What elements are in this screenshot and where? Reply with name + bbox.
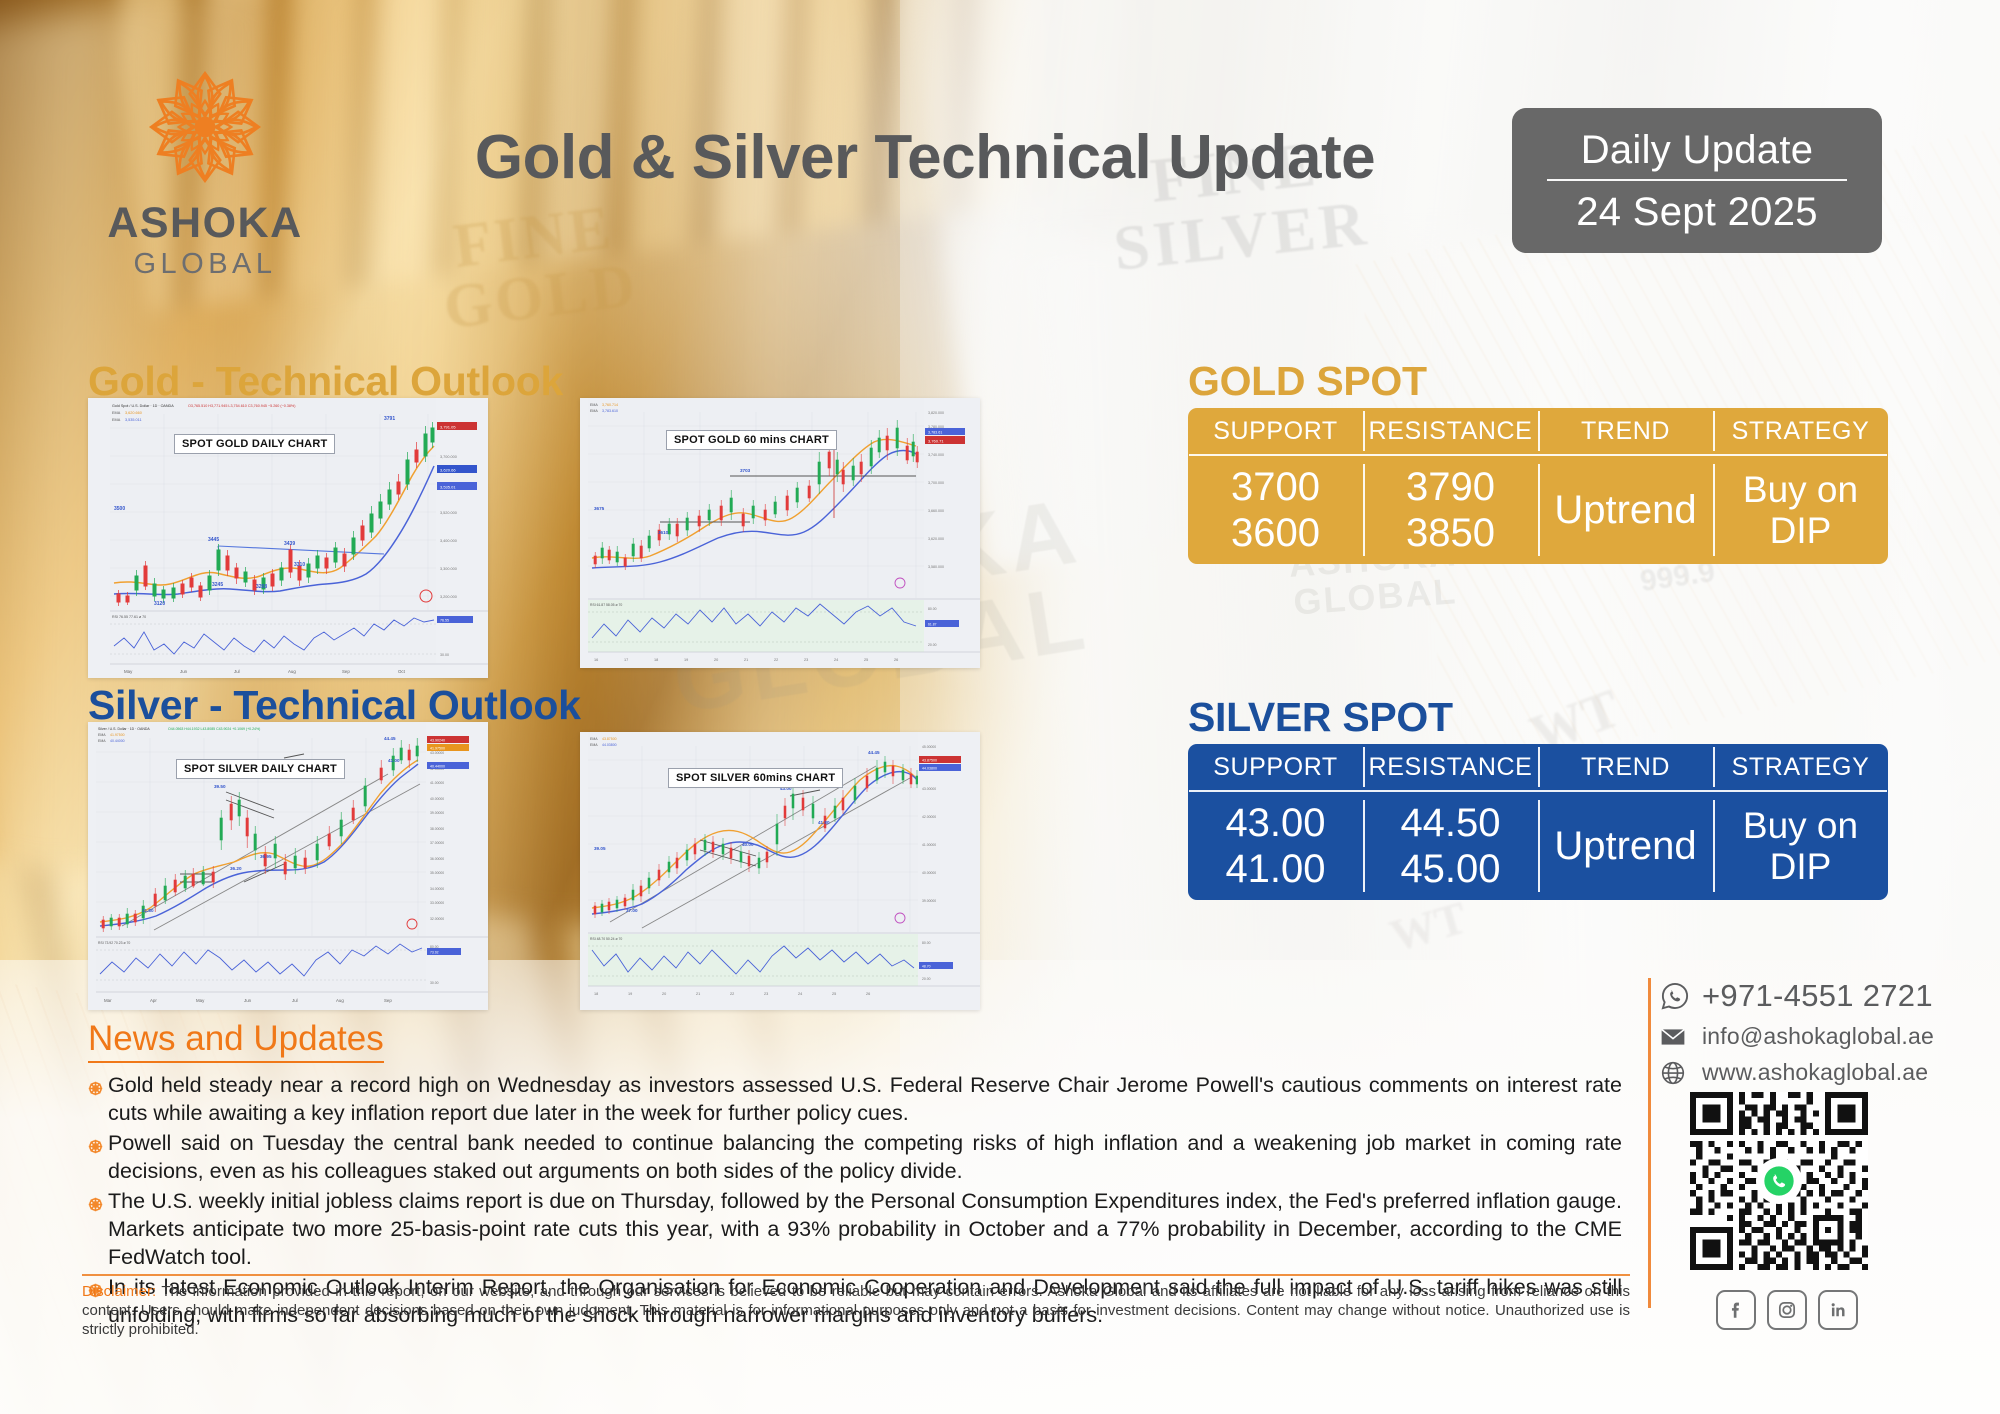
svg-text:3445: 3445	[208, 537, 219, 543]
svg-text:36.00000: 36.00000	[430, 857, 444, 861]
svg-text:44.45: 44.45	[868, 750, 880, 755]
contact-email: info@ashokaglobal.ae	[1702, 1023, 1934, 1050]
svg-text:Sep: Sep	[342, 669, 350, 674]
silver-trend-value: Uptrend	[1538, 792, 1713, 900]
gold-table-header-row: SUPPORT RESISTANCE TREND STRATEGY	[1188, 408, 1888, 454]
whatsapp-icon	[1763, 1165, 1795, 1197]
envelope-icon	[1660, 1024, 1702, 1050]
gold-support-2: 3600	[1231, 511, 1320, 556]
svg-text:38.00000: 38.00000	[430, 827, 444, 831]
svg-text:41.00000: 41.00000	[430, 781, 444, 785]
svg-text:73.92: 73.92	[430, 951, 439, 955]
instagram-icon[interactable]	[1767, 1290, 1807, 1330]
svg-text:3,535.01: 3,535.01	[440, 484, 456, 489]
svg-text:30.00: 30.00	[440, 653, 449, 657]
svg-text:RSI 48.70 50.24 ø 70: RSI 48.70 50.24 ø 70	[590, 937, 622, 941]
svg-text:26: 26	[866, 992, 870, 996]
disclaimer-text: The information provided in this report,…	[82, 1283, 1630, 1338]
gold-resistance-2: 3850	[1406, 511, 1495, 556]
contact-website: www.ashokaglobal.ae	[1702, 1059, 1928, 1086]
svg-text:39.05: 39.05	[594, 846, 606, 851]
svg-text:80.00: 80.00	[928, 607, 937, 611]
svg-text:37.00000: 37.00000	[430, 841, 444, 845]
svg-text:May: May	[196, 998, 205, 1003]
svg-text:40.44000: 40.44000	[110, 739, 125, 743]
svg-text:3791: 3791	[384, 416, 395, 422]
silver-table-value-row: 43.00 41.00 44.50 45.00 Uptrend Buy on D…	[1188, 792, 1888, 900]
svg-text:39.00000: 39.00000	[430, 811, 444, 815]
qr-whatsapp-badge	[1756, 1158, 1802, 1204]
chart-silver-60min-title: SPOT SILVER 60mins CHART	[668, 768, 843, 788]
badge-label: Daily Update	[1581, 130, 1814, 179]
svg-text:Sep: Sep	[384, 998, 392, 1003]
svg-text:61.87: 61.87	[928, 623, 937, 627]
news-bullet	[82, 1130, 108, 1186]
svg-text:20: 20	[662, 992, 666, 996]
contact-phone-row[interactable]: +971-4551 2721	[1660, 978, 1934, 1014]
svg-text:3,620.66: 3,620.66	[440, 467, 456, 472]
svg-text:24: 24	[834, 658, 838, 662]
svg-text:43.87500: 43.87500	[922, 759, 937, 763]
svg-text:Jul: Jul	[234, 669, 240, 674]
svg-text:39.50: 39.50	[214, 784, 226, 789]
svg-text:3439: 3439	[284, 541, 295, 547]
svg-text:Jun: Jun	[244, 998, 252, 1003]
svg-text:16: 16	[594, 658, 598, 662]
daily-update-badge: Daily Update 24 Sept 2025	[1512, 108, 1882, 253]
svg-text:3,580.000: 3,580.000	[928, 565, 944, 569]
svg-text:34.00000: 34.00000	[430, 887, 444, 891]
svg-text:36.95: 36.95	[260, 854, 272, 859]
svg-text:RSI 76.55 77.61 ø 70: RSI 76.55 77.61 ø 70	[112, 615, 146, 619]
gold-col-trend: TREND	[1538, 408, 1713, 454]
svg-text:Aug: Aug	[288, 669, 296, 674]
svg-text:39.00000: 39.00000	[922, 899, 936, 903]
brand-logo-block: ASHOKA GLOBAL	[90, 58, 320, 279]
news-item: Gold held steady near a record high on W…	[82, 1072, 1622, 1128]
social-links	[1716, 1290, 1858, 1330]
chart-gold-daily-title: SPOT GOLD DAILY CHART	[174, 434, 335, 454]
svg-text:3268: 3268	[256, 584, 267, 590]
svg-text:40.00: 40.00	[742, 842, 754, 847]
svg-text:Oct: Oct	[398, 669, 406, 674]
svg-text:31.80: 31.80	[142, 908, 154, 913]
svg-text:45.00000: 45.00000	[922, 745, 936, 749]
qr-code-whatsapp[interactable]	[1690, 1092, 1868, 1270]
svg-text:21: 21	[696, 992, 700, 996]
svg-text:25: 25	[832, 992, 836, 996]
svg-text:EMA: EMA	[590, 737, 598, 741]
svg-text:3,200.000: 3,200.000	[440, 595, 457, 599]
svg-text:43.00000: 43.00000	[922, 787, 936, 791]
mandala-flower-icon	[136, 58, 274, 196]
silver-resistance-1: 44.50	[1400, 801, 1500, 846]
news-item: The U.S. weekly initial jobless claims r…	[82, 1188, 1622, 1272]
svg-text:41.97500: 41.97500	[430, 747, 445, 751]
mandala-bullet-icon	[88, 1197, 103, 1212]
svg-text:3,620.660: 3,620.660	[125, 411, 142, 415]
svg-text:40.44000: 40.44000	[430, 765, 445, 769]
chart-gold-daily[interactable]: Gold Spot / U.S. Dollar · 1D · OANDA O3,…	[88, 398, 488, 678]
gold-resistance-1: 3790	[1406, 465, 1495, 510]
contact-phone: +971-4551 2721	[1702, 978, 1933, 1014]
svg-text:23: 23	[804, 658, 808, 662]
svg-text:76.55: 76.55	[440, 619, 449, 623]
svg-text:3,400.000: 3,400.000	[440, 539, 457, 543]
svg-text:22: 22	[774, 658, 778, 662]
svg-text:3675: 3675	[594, 506, 605, 511]
news-text: Gold held steady near a record high on W…	[108, 1072, 1622, 1128]
svg-text:May: May	[124, 669, 133, 674]
svg-text:RSI 61.87 58.05 ø 70: RSI 61.87 58.05 ø 70	[590, 603, 622, 607]
silver-resistance-2: 45.00	[1400, 847, 1500, 892]
svg-text:O44.0563 H44.1932 L43.8085 C43: O44.0563 H44.1932 L43.8085 C43.9024 +0.1…	[168, 727, 260, 731]
mandala-bullet-icon	[88, 1081, 103, 1096]
svg-text:32.00000: 32.00000	[430, 917, 444, 921]
svg-text:43.00000: 43.00000	[430, 751, 444, 755]
svg-text:41.97500: 41.97500	[110, 733, 125, 737]
svg-text:Apr: Apr	[150, 998, 157, 1003]
svg-text:20.00: 20.00	[928, 643, 937, 647]
chart-gold-60min[interactable]: EMA 3,760.714 EMA 3,783.610	[580, 398, 980, 668]
svg-text:41.00000: 41.00000	[922, 843, 936, 847]
silver-table-header-row: SUPPORT RESISTANCE TREND STRATEGY	[1188, 744, 1888, 790]
mandala-bullet-icon	[88, 1139, 103, 1154]
news-item: Powell said on Tuesday the central bank …	[82, 1130, 1622, 1186]
svg-text:44.03800: 44.03800	[602, 743, 617, 747]
chart-silver-daily[interactable]: Silver / U.S. Dollar · 1D · OANDA O44.05…	[88, 722, 488, 1010]
news-heading: News and Updates	[88, 1020, 384, 1063]
silver-spot-table: SUPPORT RESISTANCE TREND STRATEGY 43.00 …	[1188, 744, 1888, 900]
disclaimer: Disclaimer: The information provided in …	[82, 1274, 1630, 1340]
news-text: The U.S. weekly initial jobless claims r…	[108, 1188, 1622, 1272]
silver-col-trend: TREND	[1538, 744, 1713, 790]
svg-text:44.45: 44.45	[384, 736, 396, 741]
svg-text:3,535.011: 3,535.011	[125, 418, 142, 422]
silver-support-1: 43.00	[1225, 801, 1325, 846]
svg-text:3,783.61: 3,783.61	[928, 431, 942, 435]
svg-text:3,300.000: 3,300.000	[440, 567, 457, 571]
svg-text:80.00: 80.00	[922, 941, 931, 945]
svg-text:Silver / U.S. Dollar · 1D · OA: Silver / U.S. Dollar · 1D · OANDA	[98, 727, 150, 731]
chart-silver-daily-title: SPOT SILVER DAILY CHART	[176, 759, 345, 779]
contact-panel: +971-4551 2721 info@ashokaglobal.ae	[1660, 978, 1934, 1095]
svg-text:RSI 73.92 70.23 ø 70: RSI 73.92 70.23 ø 70	[98, 941, 130, 945]
svg-text:30.00: 30.00	[430, 981, 439, 985]
disclaimer-label: Disclaimer:	[82, 1283, 156, 1300]
news-bullet	[82, 1188, 108, 1272]
svg-text:3,660.000: 3,660.000	[928, 509, 944, 513]
linkedin-icon[interactable]	[1818, 1290, 1858, 1330]
svg-text:3703: 3703	[740, 468, 751, 473]
svg-text:3,700.000: 3,700.000	[928, 481, 944, 485]
badge-divider	[1547, 179, 1847, 181]
svg-text:3,520.000: 3,520.000	[440, 511, 457, 515]
gold-table-value-row: 3700 3600 3790 3850 Uptrend Buy on DIP	[1188, 456, 1888, 564]
silver-col-strategy: STRATEGY	[1713, 744, 1888, 790]
svg-text:26: 26	[894, 658, 898, 662]
svg-text:20: 20	[714, 658, 718, 662]
svg-text:19: 19	[684, 658, 688, 662]
svg-text:3,760.71: 3,760.71	[928, 438, 944, 443]
chart-silver-60min[interactable]: EMA 43.87500 EMA 44.03800	[580, 732, 980, 1010]
svg-text:EMA: EMA	[590, 409, 598, 413]
svg-text:36.20: 36.20	[230, 866, 242, 871]
svg-text:EMA: EMA	[112, 411, 121, 415]
silver-support-2: 41.00	[1225, 847, 1325, 892]
svg-text:EMA: EMA	[98, 739, 106, 743]
contact-email-row[interactable]: info@ashokaglobal.ae	[1660, 1023, 1934, 1050]
svg-text:35.00000: 35.00000	[430, 871, 444, 875]
svg-text:EMA: EMA	[590, 743, 598, 747]
page-title: Gold & Silver Technical Update	[370, 122, 1480, 193]
svg-text:40.00000: 40.00000	[922, 871, 936, 875]
gold-col-resistance: RESISTANCE	[1363, 408, 1538, 454]
gold-support-values: 3700 3600	[1188, 456, 1363, 564]
silver-spot-heading: SILVER SPOT	[1188, 694, 1453, 741]
svg-text:40.00000: 40.00000	[430, 797, 444, 801]
svg-text:3610: 3610	[658, 530, 669, 535]
gold-col-support: SUPPORT	[1188, 408, 1363, 454]
svg-text:24: 24	[798, 992, 802, 996]
svg-text:Jun: Jun	[180, 669, 188, 674]
facebook-icon[interactable]	[1716, 1290, 1756, 1330]
svg-text:3245: 3245	[212, 582, 223, 588]
svg-text:3310: 3310	[294, 562, 305, 568]
svg-text:3,620.000: 3,620.000	[928, 537, 944, 541]
svg-text:25: 25	[864, 658, 868, 662]
badge-date: 24 Sept 2025	[1576, 181, 1818, 232]
svg-text:O3,765.510 H3,771.945 L3,754.6: O3,765.510 H3,771.945 L3,754.610 C3,760.…	[188, 404, 295, 408]
svg-text:3,791.05: 3,791.05	[440, 424, 456, 429]
news-text: Powell said on Tuesday the central bank …	[108, 1130, 1622, 1186]
svg-text:20.00: 20.00	[922, 977, 931, 981]
svg-text:Aug: Aug	[336, 998, 344, 1003]
svg-text:22: 22	[730, 992, 734, 996]
svg-text:43.87500: 43.87500	[602, 737, 617, 741]
svg-text:44.03800: 44.03800	[922, 767, 937, 771]
whatsapp-icon	[1660, 981, 1702, 1011]
svg-text:Gold Spot / U.S. Dollar · 1D ·: Gold Spot / U.S. Dollar · 1D · OANDA	[112, 404, 174, 408]
svg-text:18: 18	[654, 658, 658, 662]
news-bullet	[82, 1072, 108, 1128]
silver-resistance-values: 44.50 45.00	[1363, 792, 1538, 900]
svg-text:3,760.714: 3,760.714	[602, 403, 618, 407]
svg-text:3,740.000: 3,740.000	[928, 453, 944, 457]
svg-text:43.90240: 43.90240	[430, 739, 445, 743]
svg-text:18: 18	[594, 992, 598, 996]
brand-subtitle: GLOBAL	[90, 250, 320, 279]
svg-text:33.00000: 33.00000	[430, 901, 444, 905]
svg-text:EMA: EMA	[590, 403, 598, 407]
svg-text:41.00: 41.00	[388, 758, 400, 763]
svg-text:37.00: 37.00	[626, 908, 638, 913]
svg-text:EMA: EMA	[112, 418, 121, 422]
globe-icon	[1660, 1060, 1702, 1086]
chart-gold-60min-title: SPOT GOLD 60 mins CHART	[666, 430, 837, 450]
gold-col-strategy: STRATEGY	[1713, 408, 1888, 454]
svg-text:Mar: Mar	[104, 998, 112, 1003]
silver-col-resistance: RESISTANCE	[1363, 744, 1538, 790]
svg-text:3,783.610: 3,783.610	[602, 409, 618, 413]
svg-text:23: 23	[764, 992, 768, 996]
brand-name: ASHOKA	[90, 202, 320, 245]
svg-text:Jul: Jul	[292, 998, 298, 1003]
svg-text:3500: 3500	[114, 506, 125, 512]
gold-spot-heading: GOLD SPOT	[1188, 358, 1427, 405]
svg-text:17: 17	[624, 658, 628, 662]
svg-text:42.00000: 42.00000	[922, 815, 936, 819]
silver-support-values: 43.00 41.00	[1188, 792, 1363, 900]
svg-text:3,700.000: 3,700.000	[440, 455, 457, 459]
svg-text:19: 19	[628, 992, 632, 996]
gold-strategy-value: Buy on DIP	[1713, 456, 1888, 564]
svg-text:3120: 3120	[154, 601, 165, 607]
gold-trend-value: Uptrend	[1538, 456, 1713, 564]
silver-col-support: SUPPORT	[1188, 744, 1363, 790]
svg-text:3,820.000: 3,820.000	[928, 411, 944, 415]
contact-website-row[interactable]: www.ashokaglobal.ae	[1660, 1059, 1934, 1086]
svg-text:48.70: 48.70	[922, 965, 931, 969]
gold-spot-table: SUPPORT RESISTANCE TREND STRATEGY 3700 3…	[1188, 408, 1888, 564]
gold-resistance-values: 3790 3850	[1363, 456, 1538, 564]
svg-text:21: 21	[744, 658, 748, 662]
svg-text:EMA: EMA	[98, 733, 106, 737]
gold-support-1: 3700	[1231, 465, 1320, 510]
svg-text:41.80: 41.80	[818, 820, 830, 825]
silver-strategy-value: Buy on DIP	[1713, 792, 1888, 900]
contact-divider	[1648, 978, 1651, 1308]
